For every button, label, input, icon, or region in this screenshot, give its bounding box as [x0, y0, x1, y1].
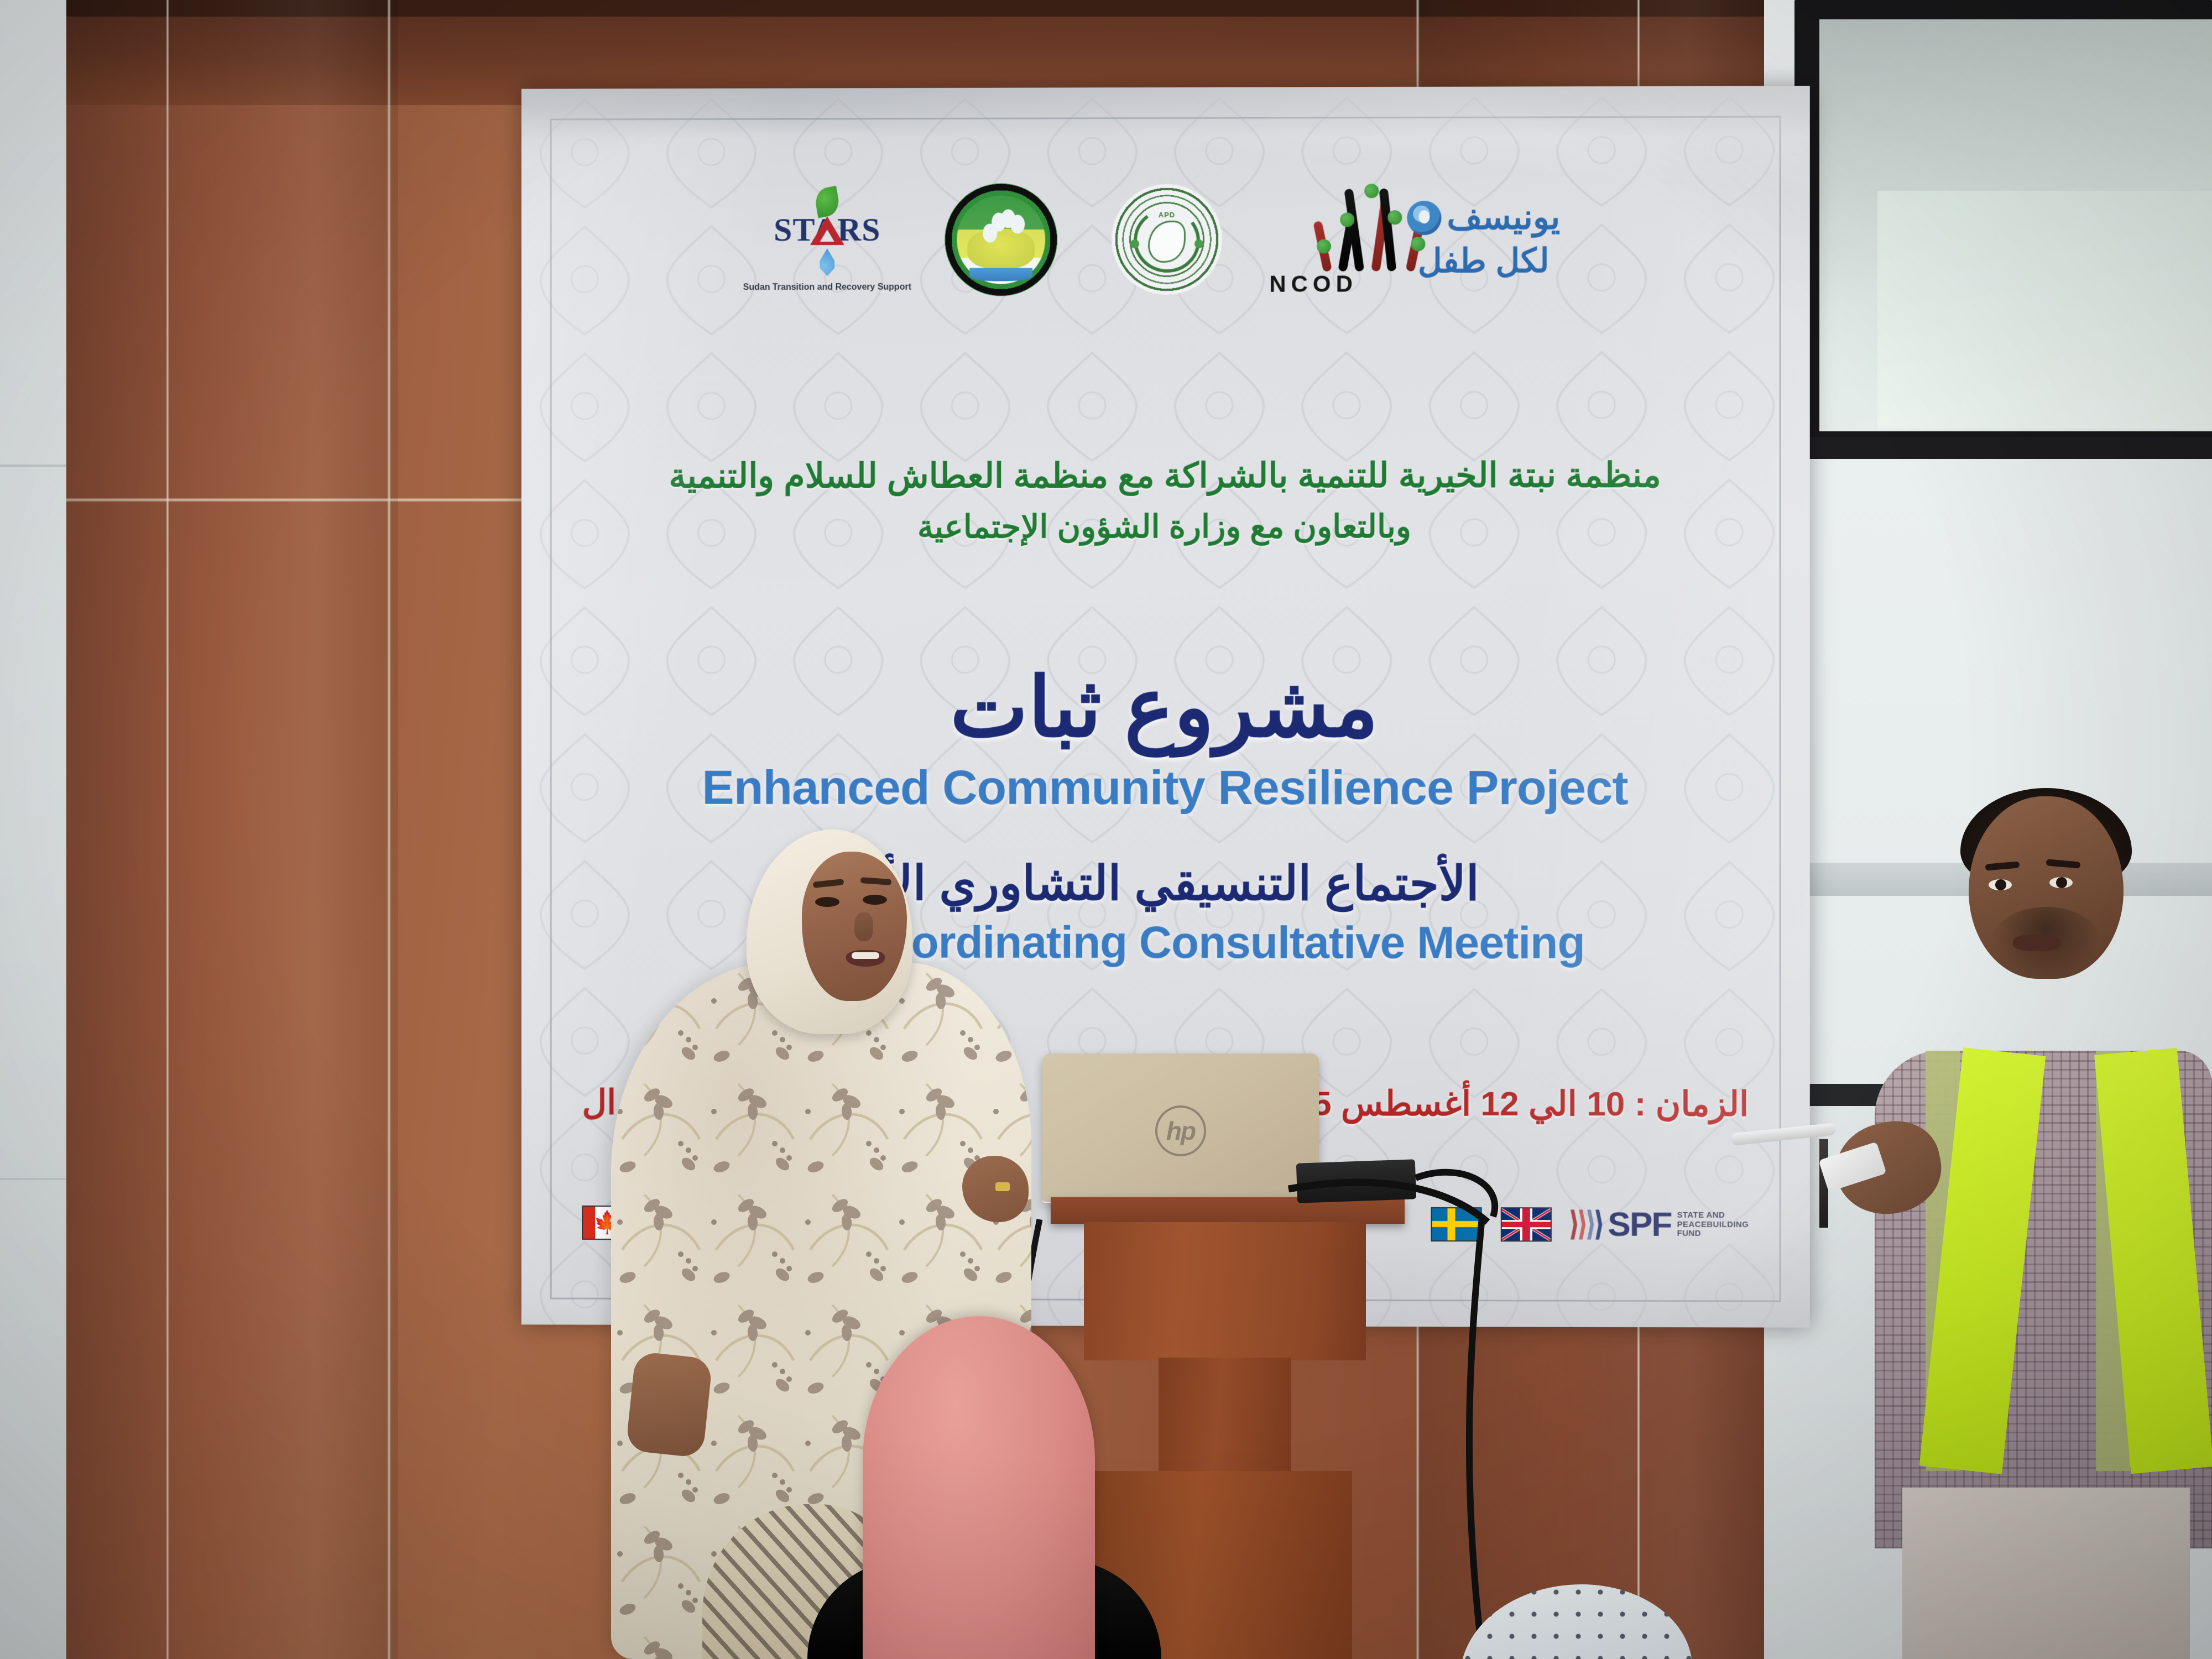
seal-dot: [1130, 239, 1139, 248]
laptop: hp: [1042, 1053, 1319, 1203]
stars-logo: STARS Sudan Transition and Recovery Supp…: [736, 187, 918, 293]
nabta-seal-logo: [918, 183, 1084, 296]
unicef-arabic-name-row: يونيسف: [1407, 200, 1560, 236]
nose: [854, 912, 873, 941]
project-title-arabic: مشروع ثبات: [521, 660, 1810, 756]
eye: [815, 897, 839, 907]
spf-sublabel: STATE AND PEACEBUILDING FUND: [1677, 1211, 1749, 1239]
projection-screen-bottom-bar: [1794, 437, 2212, 459]
teeth: [852, 952, 879, 959]
hp-logo-icon: hp: [1155, 1105, 1206, 1156]
audience-pink-hijab: [863, 1316, 1095, 1659]
unicef-globe-icon: [1407, 201, 1441, 235]
pupil: [1995, 879, 2006, 890]
conference-room-photo: STARS Sudan Transition and Recovery Supp…: [0, 0, 2212, 1659]
spf-sub-line-1: STATE AND: [1677, 1211, 1749, 1220]
power-adapter: [1296, 1159, 1416, 1203]
left-plaster-wall: [0, 0, 75, 1659]
event-date-line: الزمان : 10 الي 12 أغسطس 5: [1312, 1083, 1749, 1124]
plaster-seam: [0, 465, 75, 467]
donor-group-right: SPF STATE AND PEACEBUILDING FUND: [1431, 1207, 1749, 1242]
spf-sub-line-2: PEACEBUILDING: [1677, 1220, 1749, 1229]
seal-dot: [1194, 239, 1203, 248]
ring: [995, 1182, 1010, 1191]
meeting-subtitle-arabic: الأجتماع التنسيقي التشاوري الأوا: [521, 855, 1810, 912]
man-hi-vis-vest-body: [1875, 1051, 2212, 1548]
speaker-woman-arm: [625, 1351, 713, 1458]
projected-slide: [1877, 191, 2212, 429]
chevron-icon: [1571, 1209, 1602, 1239]
flag-sweden-icon: [1431, 1207, 1481, 1241]
flag-united-kingdom-icon: [1501, 1207, 1552, 1241]
stars-tagline: Sudan Transition and Recovery Support: [743, 283, 911, 293]
podium-body: [1084, 1222, 1366, 1360]
mouth: [2013, 935, 2060, 951]
organizer-line-1: منظمة نبتة الخيرية للتنمية بالشراكة مع م…: [521, 455, 1810, 496]
wood-shading: [66, 0, 398, 1659]
seal-icon: APD: [1112, 184, 1222, 295]
water-band: [969, 268, 1032, 281]
stars-wordmark: STARS: [774, 213, 880, 246]
event-date-line-fragment: ال: [582, 1082, 616, 1123]
spf-logo: SPF STATE AND PEACEBUILDING FUND: [1571, 1207, 1749, 1242]
man-trousers: [1902, 1488, 2190, 1659]
triangle-a-hole: [820, 229, 834, 242]
organizer-line-2: وبالتعاون مع وزارة الشؤون الإجتماعية: [521, 507, 1810, 546]
apd-seal-logo: APD: [1084, 184, 1250, 295]
eye: [863, 895, 887, 905]
pupil: [2056, 877, 2067, 888]
water-drop-icon: [817, 248, 838, 276]
unicef-tagline: لكل طفل: [1418, 243, 1550, 278]
hands-icon: [967, 228, 1035, 269]
unicef-arabic-name: يونيسف: [1447, 200, 1560, 236]
ncod-wordmark: NCOD: [1269, 272, 1358, 295]
figures-icon: [983, 209, 1019, 232]
spf-wordmark: SPF: [1608, 1208, 1671, 1242]
seal-icon: [945, 183, 1057, 296]
spf-sub-line-3: FUND: [1677, 1229, 1749, 1239]
plaster-seam: [0, 1178, 75, 1180]
project-title-english: Enhanced Community Resilience Project: [521, 759, 1810, 816]
meeting-subtitle-english: First Coordinating Consultative Meeting: [521, 916, 1810, 969]
banner-logo-row: STARS Sudan Transition and Recovery Supp…: [521, 169, 1810, 310]
unicef-logo: يونيسف لكل طفل: [1377, 200, 1593, 278]
ncod-logo: NCOD: [1250, 182, 1377, 296]
podium-column: [1159, 1358, 1291, 1474]
